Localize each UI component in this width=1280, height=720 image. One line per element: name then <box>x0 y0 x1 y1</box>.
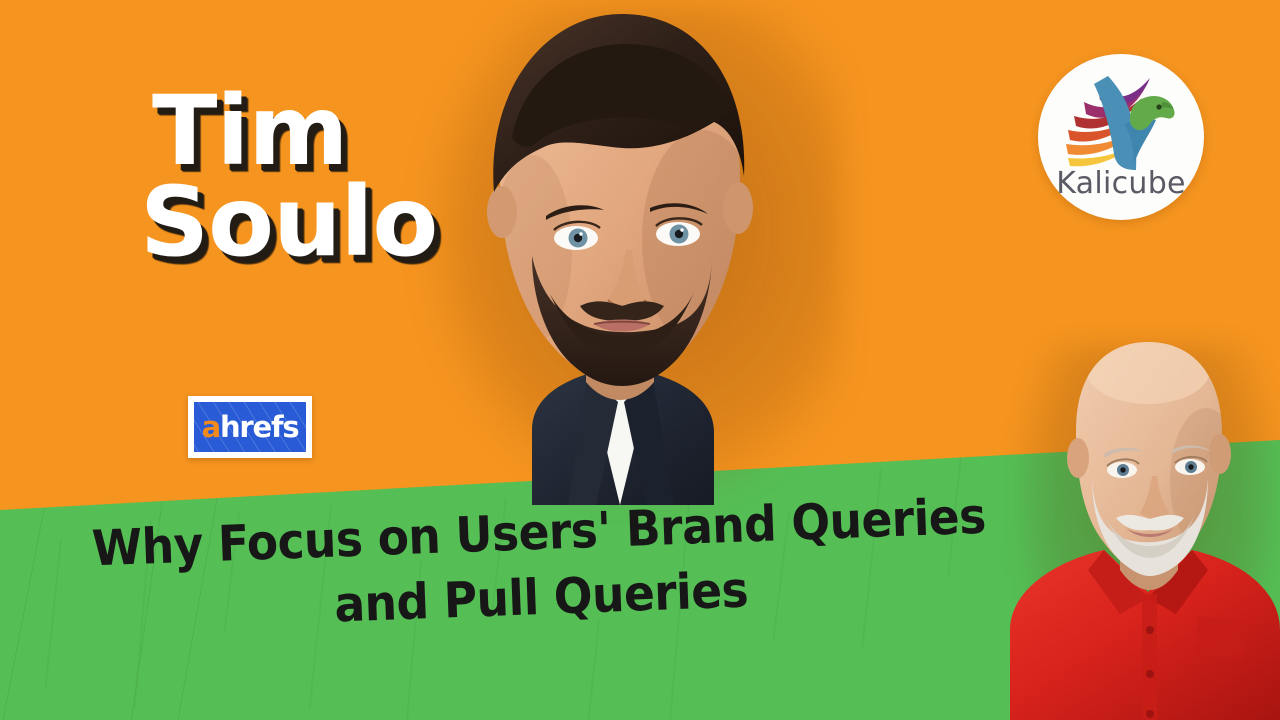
video-thumbnail: Tim Soulo ahrefs Kalicube Why Focu <box>0 0 1280 720</box>
ahrefs-rest-letters: hrefs <box>220 410 299 444</box>
guest-portrait <box>382 0 852 505</box>
ahrefs-badge-inner: ahrefs <box>194 402 306 452</box>
speaker-first-name: Tim <box>152 86 437 177</box>
kalicube-bird-logo-icon <box>1064 74 1178 174</box>
ahrefs-accent-letter: a <box>202 410 220 444</box>
kalicube-wordmark: Kalicube <box>1038 166 1204 201</box>
guest-portrait-illustration <box>382 0 852 505</box>
speaker-last-name: Soulo <box>140 177 437 268</box>
kalicube-logo: Kalicube <box>1038 54 1204 220</box>
ahrefs-wordmark: ahrefs <box>202 413 299 442</box>
ahrefs-brand-badge: ahrefs <box>188 396 312 458</box>
speaker-name: Tim Soulo <box>152 86 437 268</box>
